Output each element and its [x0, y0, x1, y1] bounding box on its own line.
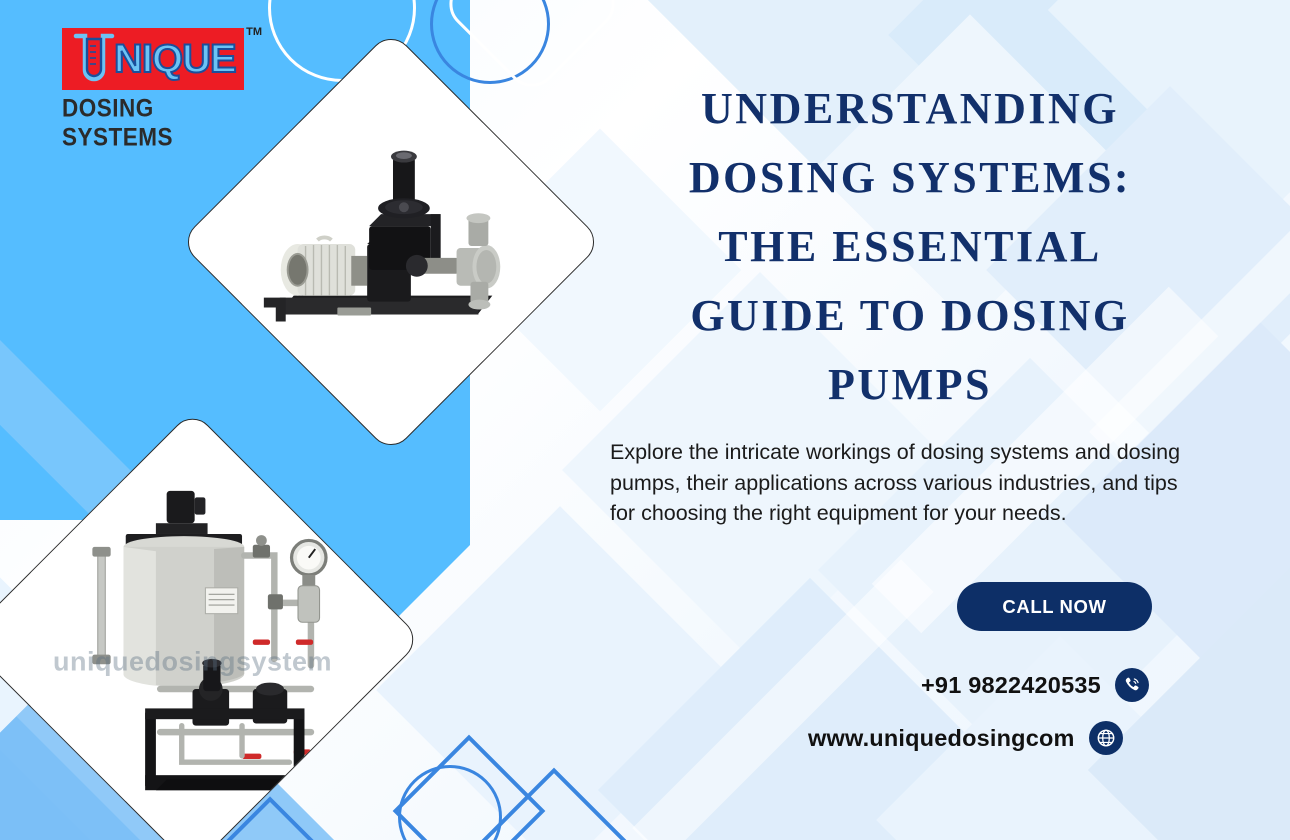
website-contact-row[interactable]: www.uniquedosingcom: [808, 721, 1123, 755]
headline-line-4: GUIDE TO DOSING: [690, 291, 1129, 340]
page-title: UNDERSTANDING DOSING SYSTEMS: THE ESSENT…: [600, 74, 1220, 419]
logo-subtitle: DOSING SYSTEMS: [62, 94, 267, 152]
headline-line-3: THE ESSENTIAL: [718, 222, 1101, 271]
phone-contact-row[interactable]: +91 9822420535: [921, 668, 1149, 702]
beaker-u-icon: [70, 33, 118, 85]
headline-line-1: UNDERSTANDING: [701, 84, 1119, 133]
headline-line-5: PUMPS: [828, 360, 992, 409]
phone-call-icon[interactable]: [1115, 668, 1149, 702]
dosing-skid-photo-bottom: [31, 478, 354, 801]
website-url: www.uniquedosingcom: [808, 725, 1075, 752]
phone-number: +91 9822420535: [921, 672, 1101, 699]
pump-photo-top: [242, 93, 540, 391]
company-logo[interactable]: NIQUE TM DOSING SYSTEMS: [62, 28, 267, 146]
headline-line-2: DOSING SYSTEMS:: [689, 153, 1131, 202]
content-column: UNDERSTANDING DOSING SYSTEMS: THE ESSENT…: [600, 0, 1290, 840]
logo-red-block: NIQUE TM: [62, 28, 244, 90]
subcopy-paragraph: Explore the intricate workings of dosing…: [610, 437, 1208, 529]
globe-icon[interactable]: [1089, 721, 1123, 755]
banner-canvas: NIQUE TM DOSING SYSTEMS: [0, 0, 1290, 840]
trademark-symbol: TM: [246, 26, 262, 38]
photo-watermark: uniquedosingsystem: [53, 647, 332, 678]
call-now-button[interactable]: CALL NOW: [957, 582, 1152, 631]
